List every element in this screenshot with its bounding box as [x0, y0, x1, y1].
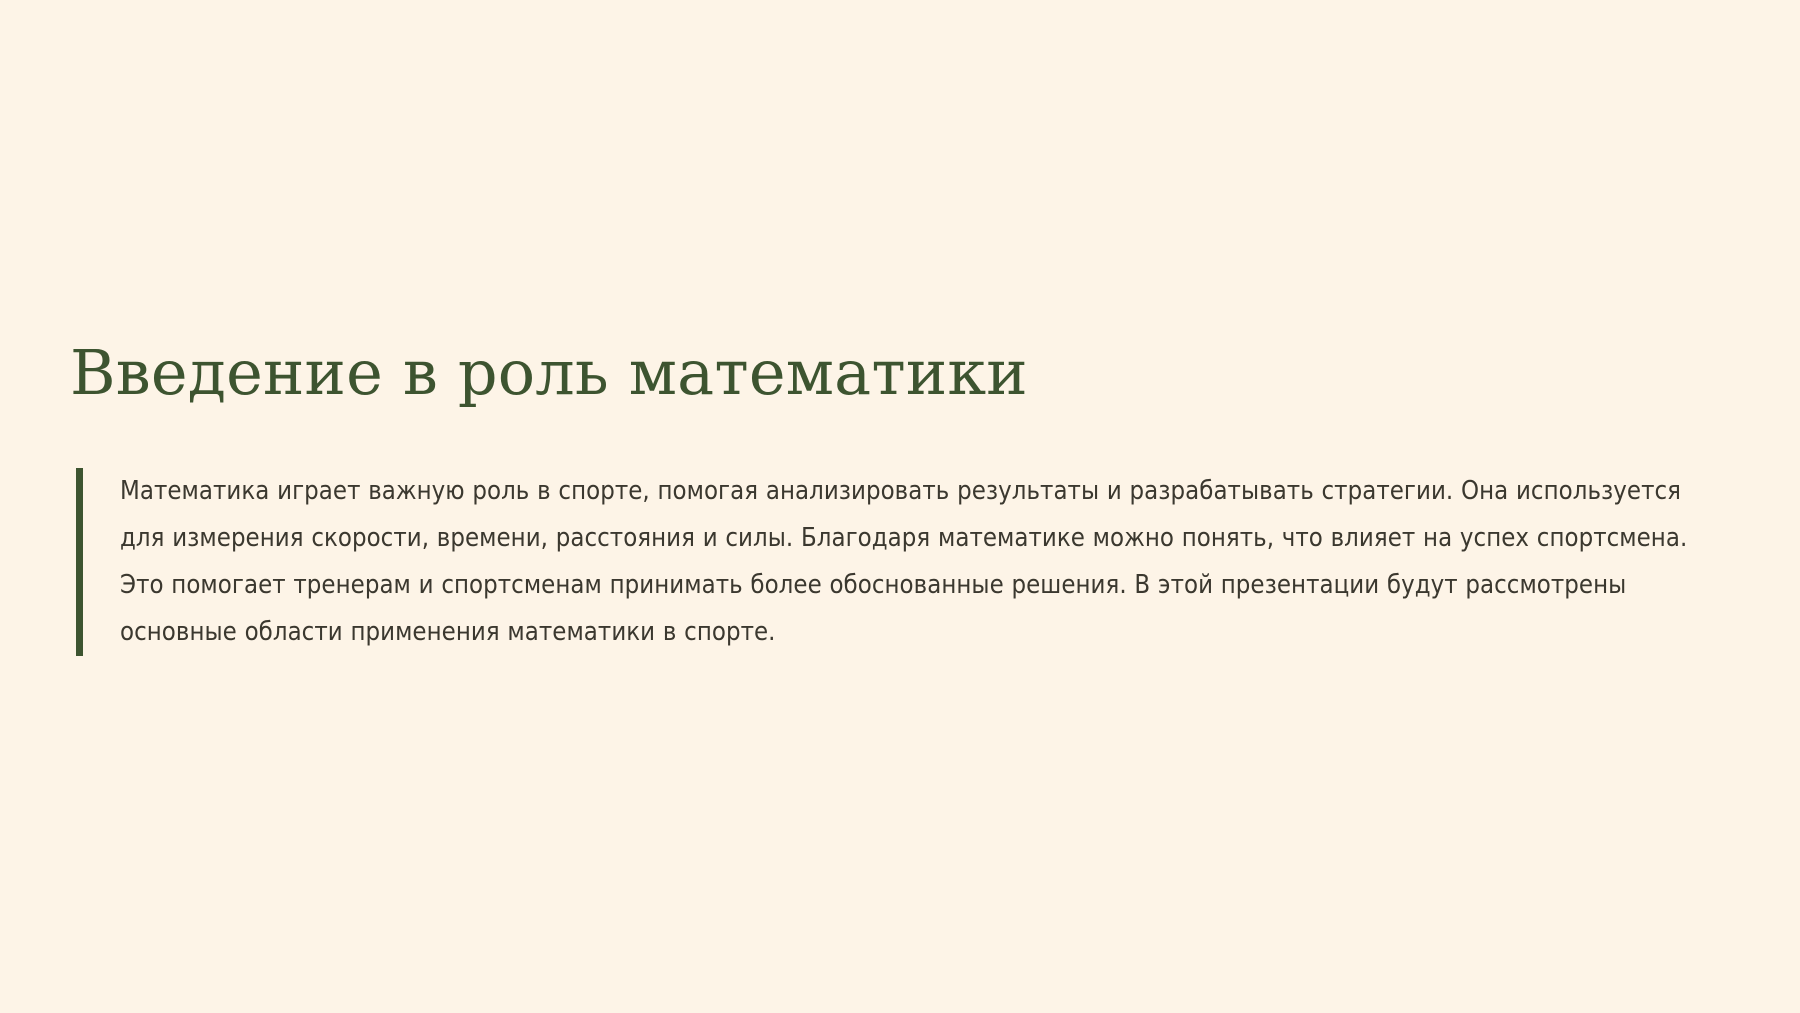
presentation-slide: Введение в роль математики Математика иг… — [0, 0, 1800, 1013]
slide-body-text: Математика играет важную роль в спорте, … — [83, 468, 1721, 656]
body-block: Математика играет важную роль в спорте, … — [76, 468, 1721, 656]
accent-bar — [76, 468, 83, 656]
slide-title: Введение в роль математики — [70, 338, 1710, 407]
